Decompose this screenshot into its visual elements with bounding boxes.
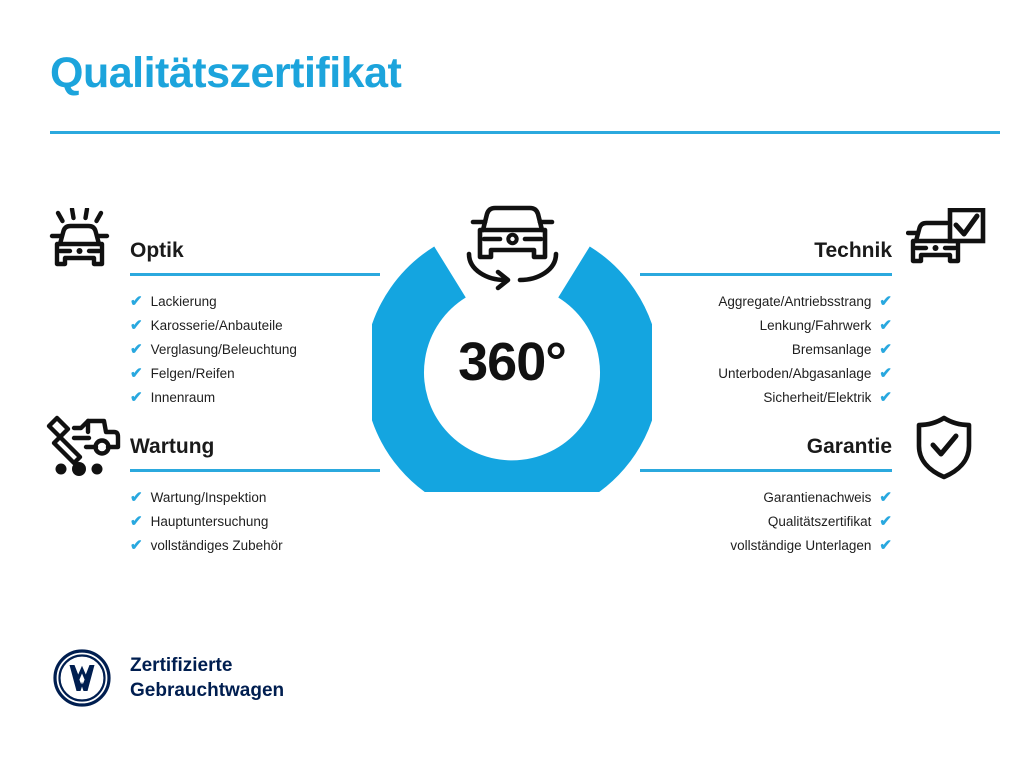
section-divider xyxy=(130,469,380,472)
check-icon: ✔ xyxy=(879,534,892,558)
section-header: Optik xyxy=(130,236,380,276)
section-divider xyxy=(640,273,892,276)
list-item-label: Innenraum xyxy=(151,386,216,410)
checklist-optik: ✔Lackierung✔Karosserie/Anbauteile✔Vergla… xyxy=(130,290,380,410)
footer-brand: Zertifizierte Gebrauchtwagen xyxy=(52,648,284,708)
car-shine-icon xyxy=(46,208,118,279)
list-item-label: Garantienachweis xyxy=(763,486,871,510)
list-item-label: Lenkung/Fahrwerk xyxy=(760,314,872,338)
check-icon: ✔ xyxy=(879,510,892,534)
list-item-label: vollständiges Zubehör xyxy=(151,534,283,558)
list-item: vollständige Unterlagen✔ xyxy=(640,534,892,558)
list-item-label: Felgen/Reifen xyxy=(151,362,235,386)
list-item: ✔Innenraum xyxy=(130,386,380,410)
list-item: Lenkung/Fahrwerk✔ xyxy=(640,314,892,338)
list-item-label: vollständige Unterlagen xyxy=(730,534,871,558)
list-item: ✔vollständiges Zubehör xyxy=(130,534,380,558)
section-garantie: Garantie Garantienachweis✔Qualitätszerti… xyxy=(640,432,892,558)
check-icon: ✔ xyxy=(879,386,892,410)
gebrauchtwagen-check-badge: Gebrauchtwagen-Check 360° xyxy=(372,192,652,492)
check-icon: ✔ xyxy=(879,486,892,510)
section-divider xyxy=(130,273,380,276)
section-divider xyxy=(640,469,892,472)
check-icon: ✔ xyxy=(879,362,892,386)
section-title: Garantie xyxy=(640,432,892,462)
car-service-pencil-icon xyxy=(44,414,122,481)
list-item: ✔Karosserie/Anbauteile xyxy=(130,314,380,338)
check-icon: ✔ xyxy=(879,290,892,314)
section-technik: Technik Aggregate/Antriebsstrang✔Lenkung… xyxy=(640,236,892,410)
list-item: Bremsanlage✔ xyxy=(640,338,892,362)
list-item: Qualitätszertifikat✔ xyxy=(640,510,892,534)
list-item: Aggregate/Antriebsstrang✔ xyxy=(640,290,892,314)
list-item: Unterboden/Abgasanlage✔ xyxy=(640,362,892,386)
list-item: ✔Verglasung/Beleuchtung xyxy=(130,338,380,362)
vw-logo xyxy=(52,648,112,708)
page-title: Qualitätszertifikat xyxy=(50,52,401,95)
list-item-label: Lackierung xyxy=(151,290,217,314)
list-item: Sicherheit/Elektrik✔ xyxy=(640,386,892,410)
section-optik: Optik ✔Lackierung✔Karosserie/Anbauteile✔… xyxy=(130,236,380,410)
list-item: ✔Lackierung xyxy=(130,290,380,314)
checklist-wartung: ✔Wartung/Inspektion✔Hauptuntersuchung✔vo… xyxy=(130,486,380,558)
list-item: Garantienachweis✔ xyxy=(640,486,892,510)
car-checkbox-icon xyxy=(906,208,986,279)
list-item-label: Qualitätszertifikat xyxy=(768,510,872,534)
list-item-label: Sicherheit/Elektrik xyxy=(763,386,871,410)
section-title: Wartung xyxy=(130,432,380,462)
badge-value: 360° xyxy=(372,332,652,392)
check-icon: ✔ xyxy=(879,314,892,338)
footer-text: Zertifizierte Gebrauchtwagen xyxy=(130,653,284,703)
check-icon: ✔ xyxy=(130,338,143,362)
check-icon: ✔ xyxy=(130,314,143,338)
checklist-technik: Aggregate/Antriebsstrang✔Lenkung/Fahrwer… xyxy=(640,290,892,410)
check-icon: ✔ xyxy=(130,362,143,386)
section-title: Technik xyxy=(640,236,892,266)
list-item-label: Wartung/Inspektion xyxy=(151,486,267,510)
section-header: Garantie xyxy=(640,432,892,472)
list-item-label: Aggregate/Antriebsstrang xyxy=(718,290,871,314)
checklist-garantie: Garantienachweis✔Qualitätszertifikat✔vol… xyxy=(640,486,892,558)
list-item-label: Hauptuntersuchung xyxy=(151,510,269,534)
list-item: ✔Felgen/Reifen xyxy=(130,362,380,386)
list-item-label: Unterboden/Abgasanlage xyxy=(718,362,871,386)
check-icon: ✔ xyxy=(130,510,143,534)
section-title: Optik xyxy=(130,236,380,266)
list-item: ✔Hauptuntersuchung xyxy=(130,510,380,534)
list-item-label: Bremsanlage xyxy=(792,338,872,362)
list-item-label: Karosserie/Anbauteile xyxy=(151,314,283,338)
section-wartung: Wartung ✔Wartung/Inspektion✔Hauptuntersu… xyxy=(130,432,380,558)
list-item: ✔Wartung/Inspektion xyxy=(130,486,380,510)
check-icon: ✔ xyxy=(879,338,892,362)
check-icon: ✔ xyxy=(130,290,143,314)
car-rotation-icon xyxy=(460,192,565,294)
check-icon: ✔ xyxy=(130,386,143,410)
check-icon: ✔ xyxy=(130,486,143,510)
section-header: Technik xyxy=(640,236,892,276)
shield-check-icon xyxy=(912,414,976,485)
list-item-label: Verglasung/Beleuchtung xyxy=(151,338,297,362)
check-icon: ✔ xyxy=(130,534,143,558)
header-divider xyxy=(50,131,1000,134)
section-header: Wartung xyxy=(130,432,380,472)
